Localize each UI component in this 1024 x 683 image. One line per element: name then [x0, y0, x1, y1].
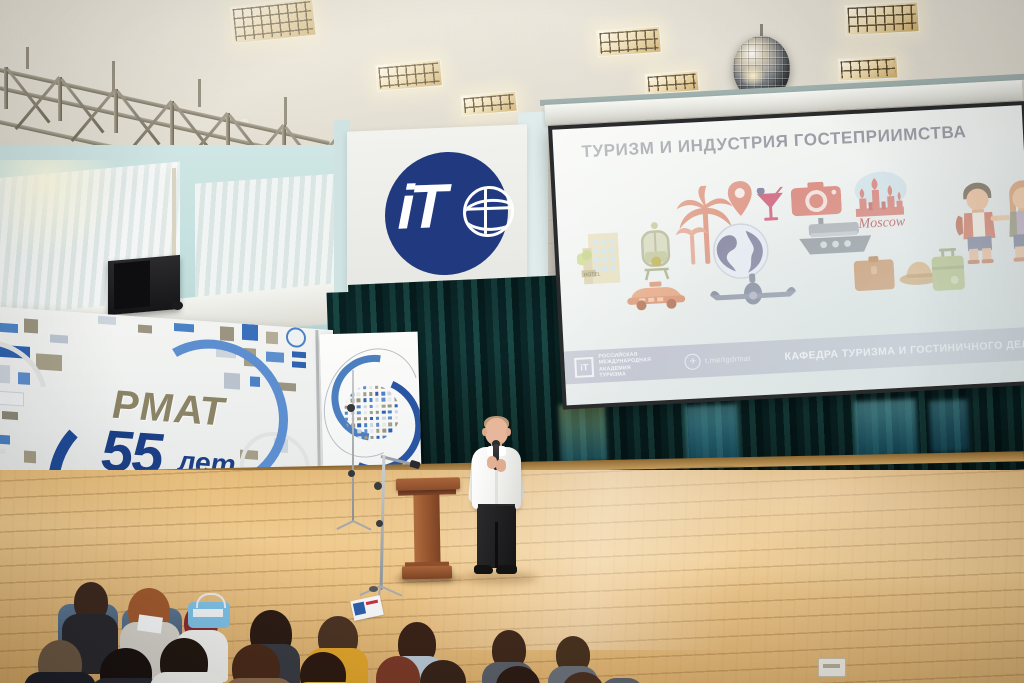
tote-bag — [188, 602, 230, 628]
mic-stand-knob — [376, 520, 383, 527]
mosaic-tile — [376, 417, 379, 420]
mosaic-tile — [358, 423, 361, 426]
speaker-hand — [496, 459, 506, 472]
traveler-male — [954, 182, 1007, 265]
mosaic-tile — [358, 436, 361, 439]
mosaic-tile — [344, 399, 347, 402]
window-daylight-glow — [0, 160, 130, 270]
mosaic-tile — [388, 416, 391, 419]
mosaic-tile — [363, 405, 366, 408]
map-pin-icon — [727, 181, 753, 223]
mosaic-tile — [389, 429, 392, 432]
department-name: КАФЕДРА ТУРИЗМА И ГОСТИНИЧНОГО ДЕЛА — [784, 337, 1024, 362]
audience-body — [24, 672, 96, 683]
mosaic-tile — [382, 410, 385, 413]
mosaic-tile — [395, 416, 398, 419]
mosaic-tile — [370, 423, 373, 426]
slide-footer-bar: iT РОССИЙСКАЯ МЕЖДУНАРОДНАЯ АКАДЕМИЯ ТУР… — [564, 327, 1024, 385]
floor-power-socket — [818, 658, 846, 677]
mosaic-tile — [364, 423, 367, 426]
cable-connector — [172, 301, 183, 310]
mosaic-tile — [381, 386, 384, 389]
telegram-icon: ✈ — [685, 353, 702, 370]
podium-column — [413, 493, 440, 569]
mosaic-tile — [363, 386, 366, 389]
hotel-building-icon: HOTEL — [576, 224, 631, 294]
mosaic-tile — [369, 392, 372, 395]
mosaic-tile — [382, 423, 385, 426]
mosaic-tile — [388, 410, 391, 413]
projected-slide: ТУРИЗМ И ИНДУСТРИЯ ГОСТЕПРИИМСТВА — [552, 105, 1024, 405]
slide-title: ТУРИЗМ И ИНДУСТРИЯ ГОСТЕПРИИМСТВА — [581, 119, 1014, 162]
mosaic-tile — [376, 423, 379, 426]
audience-body — [150, 672, 224, 683]
mosaic-tile — [376, 435, 379, 438]
monitor-screen — [114, 260, 150, 309]
travelers-couple-icon — [953, 179, 1024, 271]
speaker-ear — [506, 428, 511, 436]
mosaic-tile — [363, 392, 366, 395]
mic-stand-knob — [374, 482, 382, 490]
academy-name: РОССИЙСКАЯ МЕЖДУНАРОДНАЯ АКАДЕМИЯ ТУРИЗМ… — [598, 351, 653, 379]
mic-stand-knob — [348, 470, 355, 477]
mosaic-tile — [369, 398, 372, 401]
svg-text:HOTEL: HOTEL — [584, 272, 601, 279]
suitcase-icon — [853, 255, 895, 298]
mosaic-tile — [375, 398, 378, 401]
mosaic-tile — [369, 386, 372, 389]
mosaic-tile — [363, 411, 366, 414]
mosaic-tile — [357, 411, 360, 414]
mosaic-tile — [389, 423, 392, 426]
mosaic-tile — [383, 435, 386, 438]
traveler-female — [995, 179, 1024, 262]
mosaic-tile — [357, 399, 360, 402]
mosaic-tile — [358, 430, 361, 433]
mic-stand-pole — [352, 370, 354, 522]
mosaic-tile — [356, 386, 359, 389]
mosaic-tile — [382, 417, 385, 420]
audience — [0, 560, 800, 683]
mosaic-tile — [382, 429, 385, 432]
speaker-ear — [482, 428, 487, 436]
mosaic-tile — [394, 398, 397, 401]
academy-logo-mark: iT — [574, 357, 594, 378]
mosaic-tile — [345, 411, 348, 414]
mosaic-tile — [388, 404, 391, 407]
mosaic-tile — [370, 436, 373, 439]
mosaic-tile — [357, 417, 360, 420]
mosaic-tile — [357, 405, 360, 408]
mosaic-tile — [370, 411, 373, 414]
mosaic-tile — [388, 392, 391, 395]
projection-screen: ТУРИЗМ И ИНДУСТРИЯ ГОСТЕПРИИМСТВА — [548, 101, 1024, 410]
tram-icon — [634, 220, 677, 289]
telegram-contact: ✈ t.me/tgdrmat — [685, 350, 751, 369]
mosaic-tile — [388, 398, 391, 401]
mosaic-tile — [394, 404, 397, 407]
mosaic-tile — [363, 399, 366, 402]
telegram-handle: t.me/tgdrmat — [705, 354, 751, 365]
mosaic-tile — [364, 417, 367, 420]
mosaic-tile — [395, 422, 398, 425]
mosaic-tile — [370, 429, 373, 432]
mosaic-tile — [375, 392, 378, 395]
mosaic-tile — [376, 404, 379, 407]
mosaic-tile — [369, 405, 372, 408]
mic-stand-knob — [347, 404, 355, 412]
conference-hall-photo: iT ТУРИЗМ И ИНДУСТРИЯ ГОСТЕПРИИМСТВА — [0, 0, 1024, 683]
printed-handout — [350, 595, 384, 621]
podium-lectern-top — [396, 477, 460, 491]
mosaic-tile — [370, 417, 373, 420]
mosaic-tile — [345, 418, 348, 421]
printed-handout — [137, 614, 163, 633]
audience-body — [224, 678, 294, 683]
mic-stand-tripod — [353, 520, 354, 521]
mosaic-tile — [394, 410, 397, 413]
mosaic-tile — [381, 392, 384, 395]
mosaic-tile — [357, 392, 360, 395]
mosaic-tile — [382, 404, 385, 407]
speaker-presenter — [468, 418, 524, 578]
academy-branding: iT РОССИЙСКАЯ МЕЖДУНАРОДНАЯ АКАДЕМИЯ ТУР… — [574, 351, 654, 381]
academy-name-line3: АКАДЕМИЯ ТУРИЗМА — [599, 364, 654, 380]
audience-body — [600, 678, 644, 683]
mosaic-tile — [345, 424, 348, 427]
airplane-icon — [709, 271, 797, 312]
slide-illustration-row: HOTEL — [564, 161, 1023, 339]
taxi-car-icon — [624, 280, 688, 316]
mosaic-tile — [375, 386, 378, 389]
mosaic-tile — [376, 411, 379, 414]
mosaic-tile — [376, 429, 379, 432]
mosaic-tile — [364, 429, 367, 432]
mosaic-tile — [382, 398, 385, 401]
mosaic-tile — [364, 436, 367, 439]
